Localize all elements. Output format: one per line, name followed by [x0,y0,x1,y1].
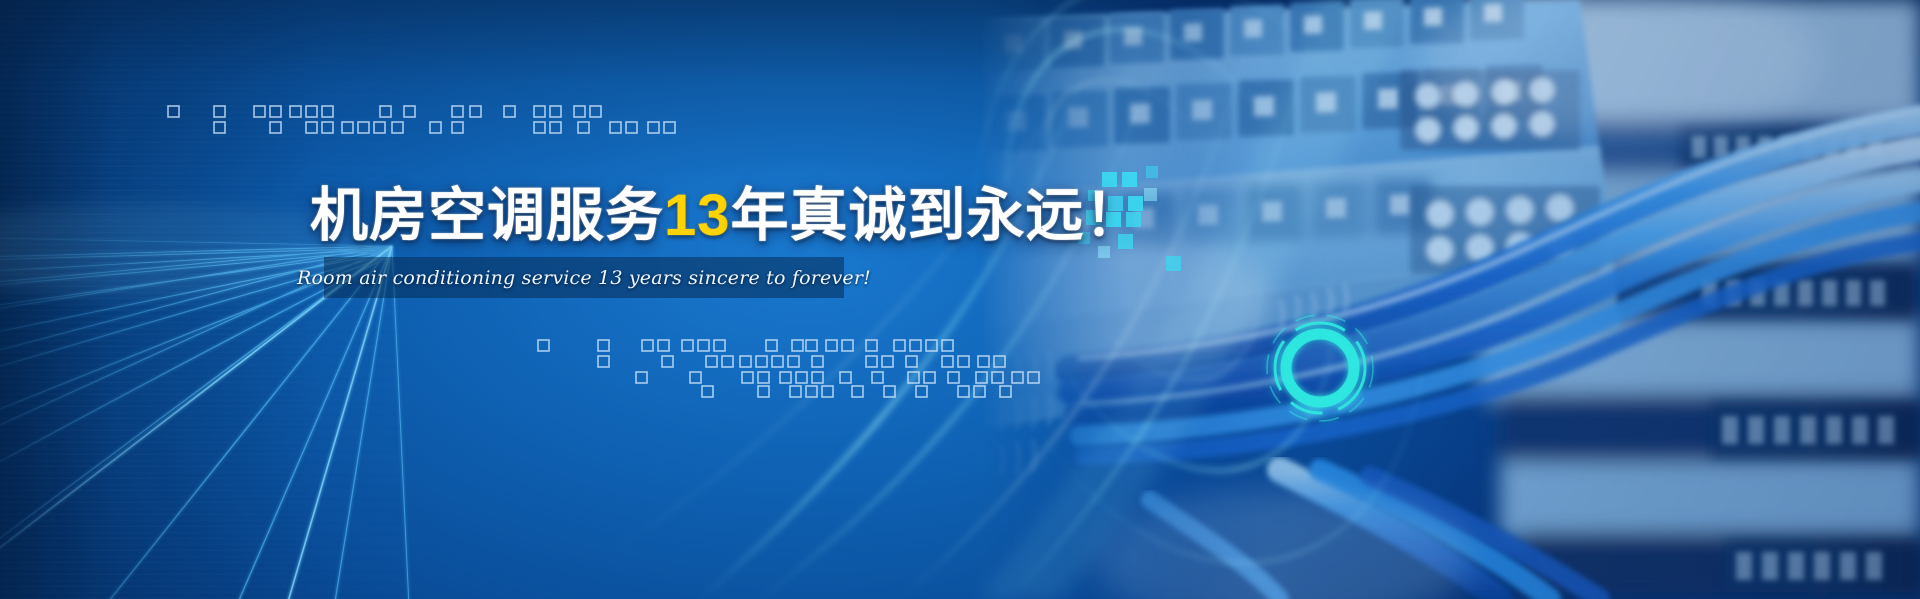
headline-suffix: 年真诚到永远！ [731,181,1144,249]
page-title: 机房空调服务13年真诚到永远！ [310,168,1144,252]
page-subtitle: Room air conditioning service 13 years s… [324,257,844,298]
hero-banner: 机房空调服务13年真诚到永远！ Room air conditioning se… [0,0,1920,599]
headline-prefix: 机房空调服务 [310,181,664,249]
headline-number: 13 [664,183,731,248]
hud-ring-icon [0,0,1920,599]
